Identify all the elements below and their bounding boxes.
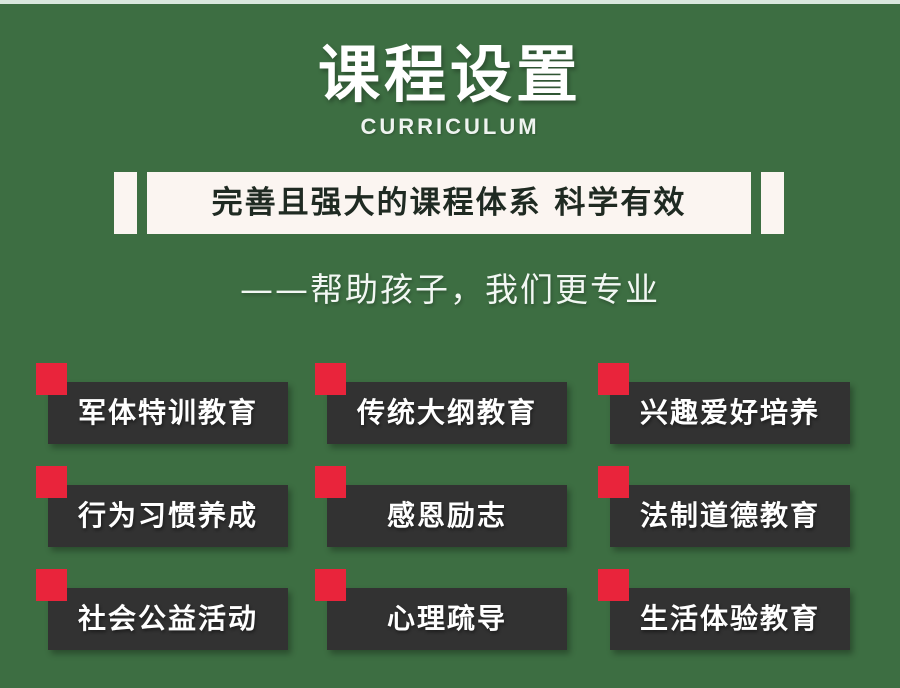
red-square-marker-icon [36, 569, 67, 601]
card-label: 心理疏导 [387, 602, 507, 636]
red-square-marker-icon [315, 363, 346, 395]
banner-box: 完善且强大的课程体系 科学有效 [147, 172, 751, 234]
card-plate: 生活体验教育 [610, 588, 850, 650]
card-plate: 法制道德教育 [610, 485, 850, 547]
banner-bar-left [114, 172, 137, 234]
card-plate: 感恩励志 [327, 485, 567, 547]
tagline: ——帮助孩子，我们更专业 [0, 268, 900, 312]
curriculum-poster: 课程设置 CURRICULUM 完善且强大的课程体系 科学有效 ——帮助孩子，我… [0, 0, 900, 688]
card-label: 法制道德教育 [640, 499, 820, 533]
red-square-marker-icon [36, 466, 67, 498]
card-plate: 兴趣爱好培养 [610, 382, 850, 444]
red-square-marker-icon [598, 363, 629, 395]
curriculum-card[interactable]: 感恩励志 [315, 466, 567, 528]
page-title: 课程设置 [0, 40, 900, 110]
curriculum-card[interactable]: 行为习惯养成 [36, 466, 288, 528]
poster-header: 课程设置 CURRICULUM [0, 40, 900, 140]
curriculum-card[interactable]: 生活体验教育 [598, 569, 850, 631]
curriculum-card[interactable]: 法制道德教育 [598, 466, 850, 528]
card-label: 社会公益活动 [78, 602, 258, 636]
card-plate: 军体特训教育 [48, 382, 288, 444]
card-label: 传统大纲教育 [357, 396, 537, 430]
card-plate: 行为习惯养成 [48, 485, 288, 547]
card-plate: 传统大纲教育 [327, 382, 567, 444]
card-plate: 社会公益活动 [48, 588, 288, 650]
card-label: 行为习惯养成 [78, 499, 258, 533]
curriculum-card[interactable]: 军体特训教育 [36, 363, 288, 425]
curriculum-card[interactable]: 社会公益活动 [36, 569, 288, 631]
red-square-marker-icon [315, 569, 346, 601]
banner-text: 完善且强大的课程体系 科学有效 [212, 185, 687, 221]
red-square-marker-icon [315, 466, 346, 498]
card-label: 兴趣爱好培养 [640, 396, 820, 430]
red-square-marker-icon [36, 363, 67, 395]
banner-bar-right [761, 172, 784, 234]
curriculum-card[interactable]: 传统大纲教育 [315, 363, 567, 425]
curriculum-card[interactable]: 心理疏导 [315, 569, 567, 631]
card-label: 生活体验教育 [640, 602, 820, 636]
highlight-banner: 完善且强大的课程体系 科学有效 [114, 172, 784, 234]
curriculum-card[interactable]: 兴趣爱好培养 [598, 363, 850, 425]
page-subtitle: CURRICULUM [0, 114, 900, 140]
curriculum-card-grid: 军体特训教育 传统大纲教育 兴趣爱好培养 行为习惯养成 感恩励志 [36, 363, 864, 663]
red-square-marker-icon [598, 466, 629, 498]
card-label: 军体特训教育 [78, 396, 258, 430]
card-plate: 心理疏导 [327, 588, 567, 650]
top-edge-strip [0, 0, 900, 4]
red-square-marker-icon [598, 569, 629, 601]
card-label: 感恩励志 [387, 499, 507, 533]
